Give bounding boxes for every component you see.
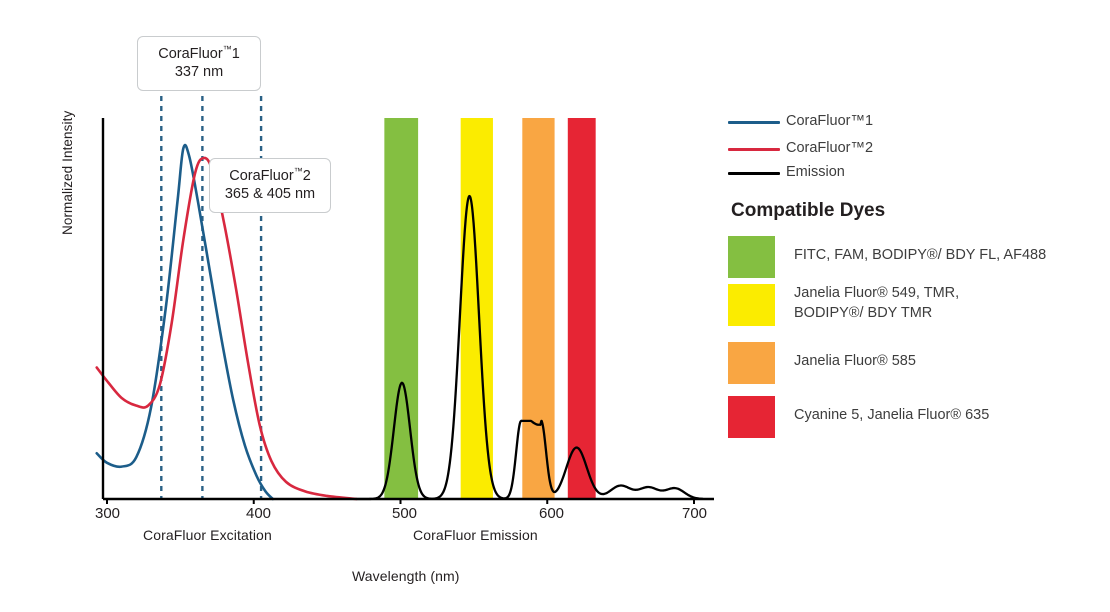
callout-cf1-title: CoraFluor™1 xyxy=(152,44,246,63)
excitation-region-caption: CoraFluor Excitation xyxy=(143,527,272,543)
yellow-band xyxy=(461,118,493,499)
figure-root: 300 400 500 600 700 Normalized Intensity… xyxy=(0,0,1110,612)
trademark-icon: ™ xyxy=(223,44,232,54)
callout-corafluor-1: CoraFluor™1 337 nm xyxy=(137,36,261,91)
legend-line-swatch xyxy=(728,172,780,175)
y-axis-title: Normalized Intensity xyxy=(60,111,75,235)
legend-line-label: CoraFluor™1 xyxy=(786,113,873,129)
dye-item-3: Janelia Fluor® 585 xyxy=(728,342,1058,386)
legend-item-corafluor1: CoraFluor™1 xyxy=(720,113,1060,131)
x-axis-title: Wavelength (nm) xyxy=(352,568,460,584)
chart-panel: 300 400 500 600 700 Normalized Intensity… xyxy=(0,0,720,612)
legend-item-corafluor2: CoraFluor™2 xyxy=(720,140,1060,158)
legend-line-swatch xyxy=(728,148,780,151)
trademark-icon: ™ xyxy=(294,166,303,176)
legend-panel: CoraFluor™1CoraFluor™2Emission Compatibl… xyxy=(720,0,1110,612)
callout-cf1-value: 337 nm xyxy=(152,63,246,82)
legend-line-swatch xyxy=(728,121,780,124)
dye-label: Janelia Fluor® 585 xyxy=(794,352,916,372)
dye-label: Cyanine 5, Janelia Fluor® 635 xyxy=(794,406,989,426)
x-tick-300: 300 xyxy=(95,505,120,522)
dye-color-swatch xyxy=(728,236,775,278)
dye-item-4: Cyanine 5, Janelia Fluor® 635 xyxy=(728,396,1058,440)
red-band xyxy=(568,118,596,499)
dye-color-swatch xyxy=(728,396,775,438)
callout-corafluor-2: CoraFluor™2 365 & 405 nm xyxy=(209,158,331,213)
legend-line-label: CoraFluor™2 xyxy=(786,140,873,156)
emission-region-caption: CoraFluor Emission xyxy=(413,527,538,543)
x-tick-500: 500 xyxy=(392,505,417,522)
x-tick-400: 400 xyxy=(246,505,271,522)
orange-band xyxy=(522,118,554,499)
green-band xyxy=(384,118,418,499)
dye-label: FITC, FAM, BODIPY®/ BDY FL, AF488 xyxy=(794,246,1046,266)
callout-cf2-title: CoraFluor™2 xyxy=(224,166,316,185)
x-tick-600: 600 xyxy=(539,505,564,522)
dye-color-swatch xyxy=(728,342,775,384)
dye-color-swatch xyxy=(728,284,775,326)
legend-line-label: Emission xyxy=(786,164,845,180)
dye-item-2: Janelia Fluor® 549, TMR, BODIPY®/ BDY TM… xyxy=(728,284,1058,328)
dye-item-1: FITC, FAM, BODIPY®/ BDY FL, AF488 xyxy=(728,236,1058,280)
x-tick-700: 700 xyxy=(682,505,707,522)
legend-item-emission: Emission xyxy=(720,164,1060,182)
dye-label: Janelia Fluor® 549, TMR, BODIPY®/ BDY TM… xyxy=(794,284,959,323)
callout-cf2-value: 365 & 405 nm xyxy=(224,185,316,204)
compatible-dyes-title: Compatible Dyes xyxy=(731,200,885,222)
